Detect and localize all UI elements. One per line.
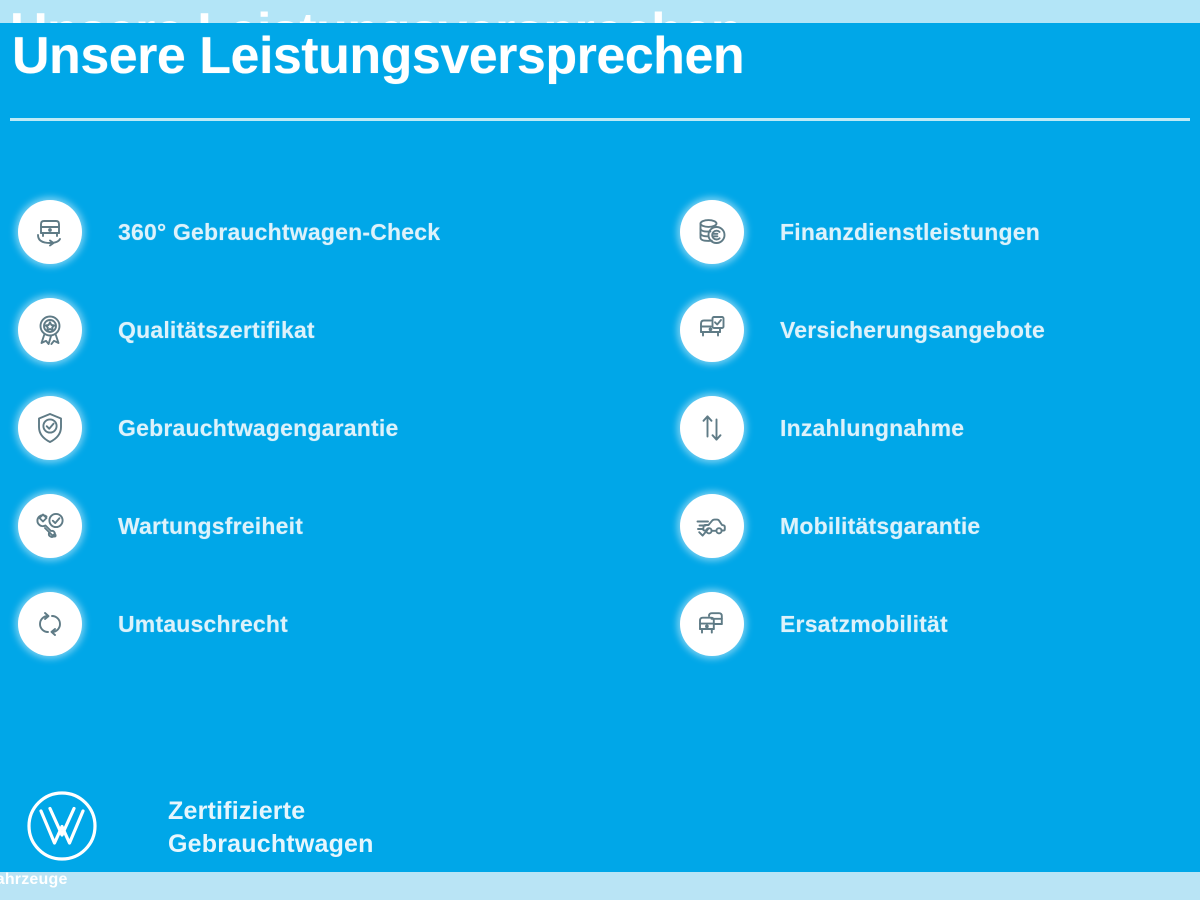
- title-divider: [10, 118, 1190, 121]
- feature-item[interactable]: Qualitätszertifikat: [18, 281, 618, 379]
- volkswagen-logo: [24, 788, 100, 864]
- arrows-up-down-icon: [680, 396, 744, 460]
- feature-item[interactable]: Mobilitätsgarantie: [680, 477, 1180, 575]
- features-column-right: Finanzdienstleistungen: [680, 183, 1180, 673]
- two-cars-icon: [680, 592, 744, 656]
- footer-claim-line1: Zertifizierte: [168, 795, 374, 828]
- feature-label: Finanzdienstleistungen: [780, 219, 1040, 246]
- car-360-check-icon: [18, 200, 82, 264]
- feature-item[interactable]: Wartungsfreiheit: [18, 477, 618, 575]
- footer-claim-line2: Gebrauchtwagen: [168, 828, 374, 861]
- feature-item[interactable]: Ersatzmobilität: [680, 575, 1180, 673]
- bottom-bleed-text: zfahrzeuge: [0, 872, 68, 891]
- feature-item[interactable]: Gebrauchtwagengarantie: [18, 379, 618, 477]
- feature-label: Versicherungsangebote: [780, 317, 1045, 344]
- feature-label: Inzahlungnahme: [780, 415, 964, 442]
- feature-label: Gebrauchtwagengarantie: [118, 415, 398, 442]
- car-motion-icon: [680, 494, 744, 558]
- footer-claim: Zertifizierte Gebrauchtwagen: [168, 795, 374, 861]
- feature-item[interactable]: Inzahlungnahme: [680, 379, 1180, 477]
- main-panel: Unsere Leistungsversprechen: [0, 23, 1200, 872]
- feature-label: Mobilitätsgarantie: [780, 513, 980, 540]
- top-bleed-text: Unsere Leistungsversprechen: [10, 2, 742, 23]
- award-medal-icon: [18, 298, 82, 362]
- feature-label: Ersatzmobilität: [780, 611, 948, 638]
- feature-item[interactable]: Umtauschrecht: [18, 575, 618, 673]
- features-column-left: 360° Gebrauchtwagen-Check Qualitätszerti…: [18, 183, 618, 673]
- top-bleed-strip: Unsere Leistungsversprechen: [0, 0, 1200, 23]
- footer: Zertifizierte Gebrauchtwagen Nutzfahrzeu…: [0, 763, 1200, 872]
- shield-check-icon: [18, 396, 82, 460]
- slide-root: Unsere Leistungsversprechen: [0, 0, 1200, 900]
- feature-item[interactable]: 360° Gebrauchtwagen-Check: [18, 183, 618, 281]
- feature-label: Wartungsfreiheit: [118, 513, 303, 540]
- page-title: Unsere Leistungsversprechen: [12, 25, 744, 87]
- bottom-bleed-strip: zfahrzeuge: [0, 872, 1200, 900]
- feature-label: 360° Gebrauchtwagen-Check: [118, 219, 440, 246]
- feature-item[interactable]: Versicherungsangebote: [680, 281, 1180, 379]
- coins-euro-icon: [680, 200, 744, 264]
- feature-label: Qualitätszertifikat: [118, 317, 315, 344]
- feature-item[interactable]: Finanzdienstleistungen: [680, 183, 1180, 281]
- car-checkbox-icon: [680, 298, 744, 362]
- feature-label: Umtauschrecht: [118, 611, 288, 638]
- wrench-check-icon: [18, 494, 82, 558]
- exchange-arrows-icon: [18, 592, 82, 656]
